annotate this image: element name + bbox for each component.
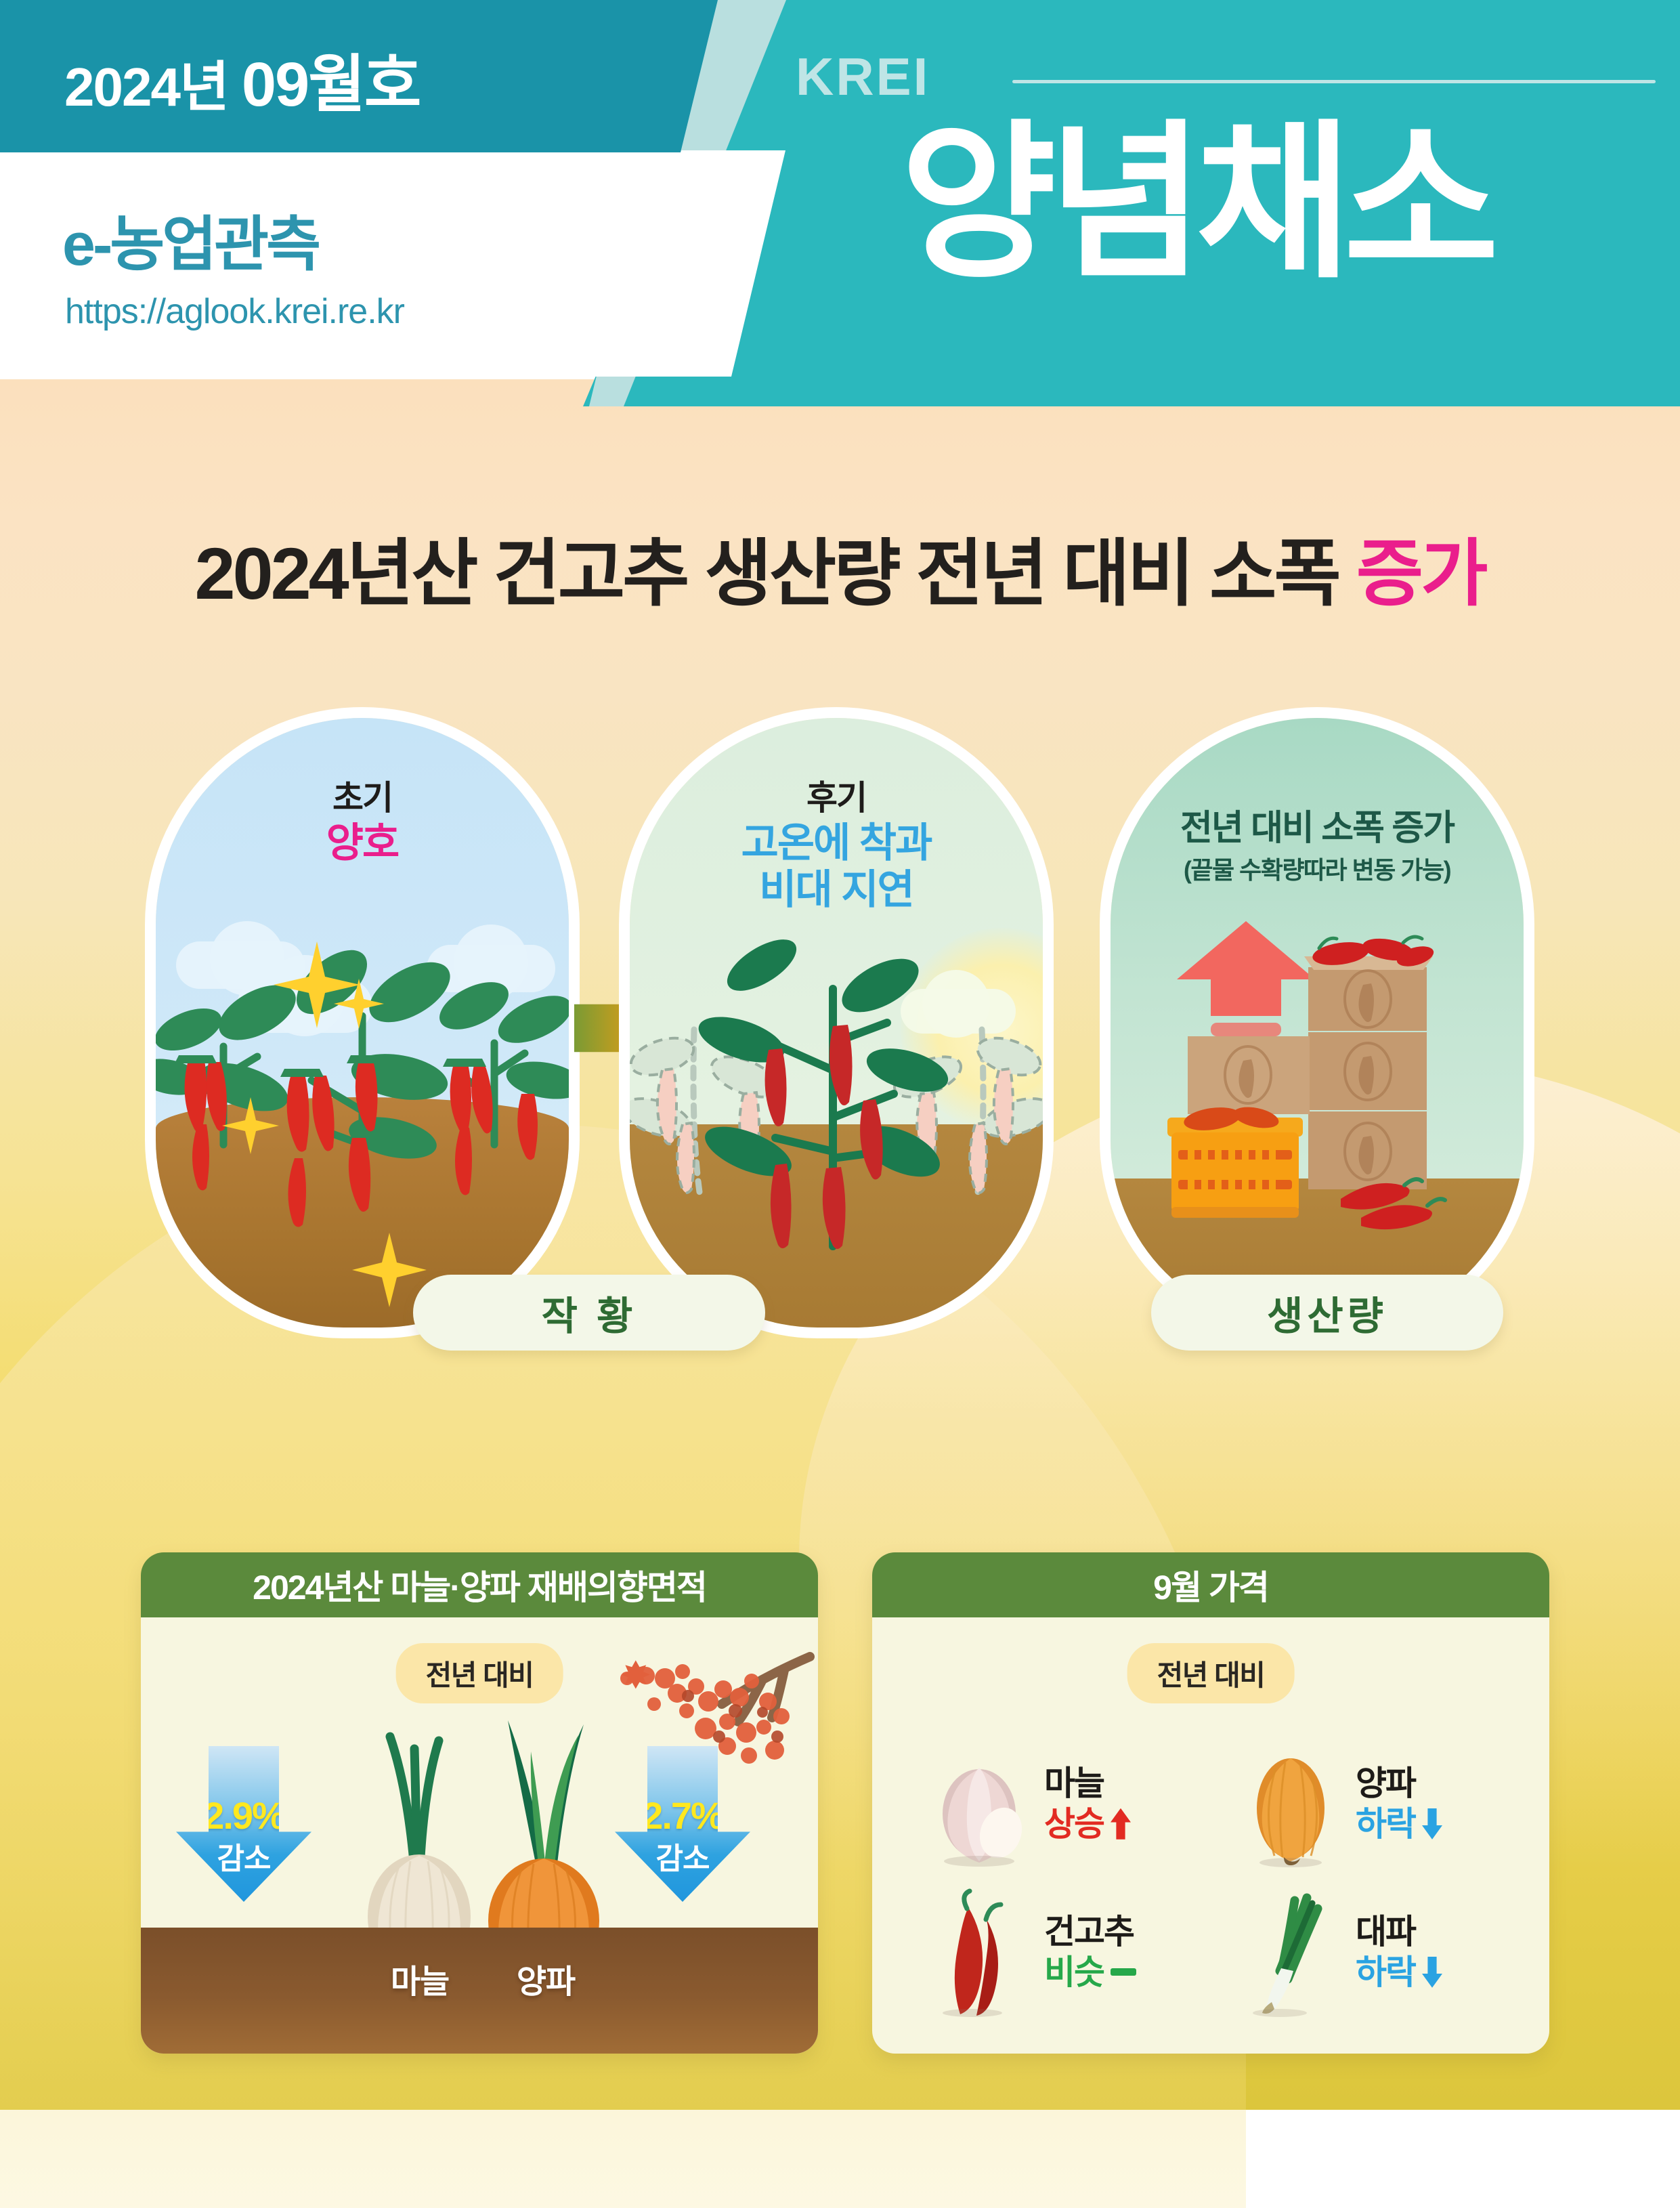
garlic-bulb-icon — [930, 1743, 1032, 1865]
panel3-status-main: 전년 대비 소폭 증가 — [1111, 799, 1524, 850]
page-title: 양념채소 — [901, 119, 1491, 288]
panel1-stage-label: 초기 — [156, 771, 569, 820]
price-value: 비슷 — [1044, 1952, 1104, 1993]
issue-year: 2024년 — [64, 57, 228, 117]
garlic-direction-label: 감소 — [176, 1834, 311, 1877]
price-value-row: 하락 — [1356, 1952, 1442, 1993]
card-cultivation-intent-area: 2024년산 마늘·양파 재배의향면적 전년 대비 — [141, 1552, 818, 2054]
issue-date: 2024년 09월호 — [64, 34, 420, 124]
krei-rule-divider — [1012, 80, 1656, 83]
garlic-pct: 2.9% — [176, 1793, 311, 1838]
price-item-garlic: 마늘 상승 — [930, 1743, 1131, 1865]
wilting-pepper-illustration — [630, 948, 1043, 1328]
pepper-plants-illustration — [156, 941, 569, 1321]
price-value: 하락 — [1356, 1952, 1415, 1993]
crop-label-onion: 양파 — [465, 1955, 627, 2002]
main-headline: 2024년산 건고추 생산량 전년 대비 소폭 증가 — [0, 515, 1680, 620]
brand-name: e-농업관측 — [62, 196, 318, 282]
card-left-title: 2024년산 마늘·양파 재배의향면적 — [141, 1552, 818, 1617]
issue-month: 09월호 — [242, 50, 421, 119]
price-crop-name: 마늘 — [1044, 1764, 1131, 1804]
panel-late-stage: 후기 고온에 착과 비대 지연 — [630, 718, 1043, 1328]
arrow-up-icon — [1111, 1808, 1131, 1840]
price-crop-name: 건고추 — [1044, 1913, 1136, 1952]
card-right-body: 전년 대비 마늘 상승 — [872, 1617, 1549, 2054]
price-item-welsh-onion: 대파 하락 — [1242, 1888, 1442, 2017]
price-value: 상승 — [1044, 1804, 1104, 1844]
card-left-body: 전년 대비 — [141, 1617, 818, 2054]
krei-logo: KREI — [796, 46, 930, 108]
price-value: 하락 — [1356, 1804, 1415, 1844]
price-value-row: 비슷 — [1044, 1952, 1136, 1993]
minus-icon — [1111, 1968, 1136, 1976]
arrow-down-icon — [1422, 1808, 1442, 1840]
card-left-badge: 전년 대비 — [396, 1643, 563, 1703]
dried-pepper-icon — [930, 1888, 1032, 2017]
panel-early-stage: 초기 양호 — [156, 718, 569, 1328]
panel2-status: 고온에 착과 비대 지연 — [630, 820, 1043, 913]
panel1-status: 양호 — [156, 820, 569, 866]
page-header: 2024년 09월호 e-농업관측 https://aglook.krei.re… — [0, 0, 1680, 406]
onion-bulb-icon — [1242, 1743, 1343, 1865]
headline-accent: 증가 — [1356, 532, 1486, 614]
pill-crop-condition: 작 황 — [413, 1275, 765, 1351]
price-crop-name: 대파 — [1356, 1913, 1442, 1952]
card-right-badge: 전년 대비 — [1127, 1643, 1295, 1703]
price-value-row: 상승 — [1044, 1804, 1131, 1844]
infographic-root: 2024년 09월호 e-농업관측 https://aglook.krei.re… — [0, 0, 1680, 2110]
pepper-boxes-illustration — [1138, 914, 1503, 1267]
card-september-price: 9월 가격 전년 대비 마늘 상승 — [872, 1552, 1549, 2054]
price-crop-name: 양파 — [1356, 1764, 1442, 1804]
price-item-dried-pepper: 건고추 비슷 — [930, 1888, 1136, 2017]
panel2-stage-label: 후기 — [630, 771, 1043, 820]
onion-direction-label: 감소 — [615, 1834, 750, 1877]
welsh-onion-icon — [1242, 1888, 1343, 2017]
headline-text: 2024년산 건고추 생산량 전년 대비 소폭 — [194, 532, 1356, 614]
price-value-row: 하락 — [1356, 1804, 1442, 1844]
price-item-onion: 양파 하락 — [1242, 1743, 1442, 1865]
panel2-status-line2: 비대 지연 — [630, 866, 1043, 913]
pill-production: 생산량 — [1151, 1275, 1503, 1351]
plastic-crate — [1167, 1103, 1303, 1218]
card-right-title: 9월 가격 — [872, 1552, 1549, 1617]
panel3-status-note: (끝물 수확량따라 변동 가능) — [1111, 851, 1524, 886]
panel-production: 전년 대비 소폭 증가 (끝물 수확량따라 변동 가능) — [1111, 718, 1524, 1328]
brand-url[interactable]: https://aglook.krei.re.kr — [65, 291, 404, 332]
panel2-status-line1: 고온에 착과 — [630, 820, 1043, 866]
garlic-decrease-arrow: 2.9% 감소 — [176, 1746, 311, 1902]
arrow-down-icon — [1422, 1957, 1442, 1988]
